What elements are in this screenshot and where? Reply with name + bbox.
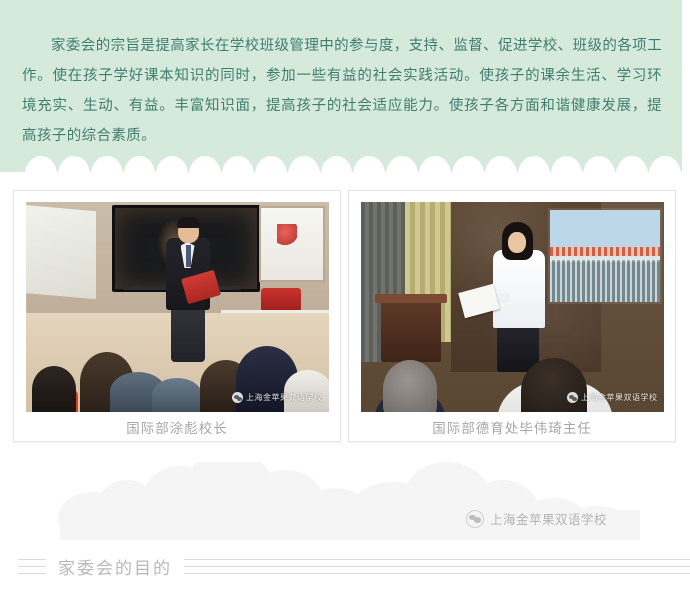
audience-person (284, 370, 329, 412)
scallop (288, 156, 320, 172)
section-heading: 家委会的目的 (0, 546, 690, 586)
heading-rule-right (184, 559, 690, 574)
wechat-icon (466, 510, 484, 528)
projection-crowd (550, 260, 660, 302)
window (259, 206, 325, 282)
scallop (583, 156, 615, 172)
photo-caption: 国际部涂彪校长 (126, 412, 228, 441)
intro-panel: 家委会的宗旨是提高家长在学校班级管理中的参与度，支持、监督、促进学校、班级的各项… (0, 0, 682, 172)
projection-screen (550, 210, 660, 302)
cloud-decoration (0, 462, 690, 540)
watermark-logo-icon (232, 392, 243, 403)
scallop (25, 156, 57, 172)
presenter-blouse (493, 250, 545, 328)
speaker-legs (171, 306, 205, 362)
scallop (91, 156, 123, 172)
photo-watermark: 上海金苹果双语学校 (232, 392, 323, 403)
scallop (452, 156, 484, 172)
scallop (386, 156, 418, 172)
scallop (321, 156, 353, 172)
heading-title: 家委会的目的 (58, 554, 172, 579)
scallop (353, 156, 385, 172)
flower-decoration (277, 224, 297, 250)
scallop (485, 156, 517, 172)
scallop (649, 156, 681, 172)
photo-caption: 国际部德育处毕伟琦主任 (432, 412, 592, 441)
projection-screen (26, 205, 96, 299)
podium (381, 300, 441, 362)
watermark-text: 上海金苹果双语学校 (581, 392, 658, 403)
footer-account-name: 上海金苹果双语学校 (490, 509, 607, 528)
heading-rule-left (18, 559, 46, 574)
foreground-person-head (521, 358, 587, 412)
watermark-text: 上海金苹果双语学校 (246, 392, 323, 403)
scallop (156, 156, 188, 172)
footer-account[interactable]: 上海金苹果双语学校 (466, 509, 607, 528)
presenter-face (508, 232, 526, 253)
audience-person (152, 378, 202, 412)
scallop (551, 156, 583, 172)
scallop (124, 156, 156, 172)
intro-paragraph: 家委会的宗旨是提高家长在学校班级管理中的参与度，支持、监督、促进学校、班级的各项… (22, 31, 662, 151)
speaker-hair (177, 217, 200, 228)
scallop (616, 156, 648, 172)
photo-card[interactable]: 上海金苹果双语学校 国际部德育处毕伟琦主任 (348, 190, 676, 442)
photo-image[interactable]: 上海金苹果双语学校 (361, 202, 664, 412)
projection-crowd-band (550, 247, 660, 256)
photo-watermark: 上海金苹果双语学校 (567, 392, 658, 403)
photo-card-row: 上海金苹果双语学校 国际部涂彪校长 (13, 190, 677, 442)
scallop (58, 156, 90, 172)
scallop-edge-decoration (25, 152, 682, 172)
scallop (518, 156, 550, 172)
speaker-tie (186, 245, 191, 267)
scallop (189, 156, 221, 172)
red-box-prop (261, 288, 301, 312)
audience-person (32, 366, 76, 412)
photo-card[interactable]: 上海金苹果双语学校 国际部涂彪校长 (13, 190, 341, 442)
photo-image[interactable]: 上海金苹果双语学校 (26, 202, 329, 412)
scallop (255, 156, 287, 172)
scallop (419, 156, 451, 172)
watermark-logo-icon (567, 392, 578, 403)
scallop (222, 156, 254, 172)
foreground-person-head (383, 360, 437, 412)
